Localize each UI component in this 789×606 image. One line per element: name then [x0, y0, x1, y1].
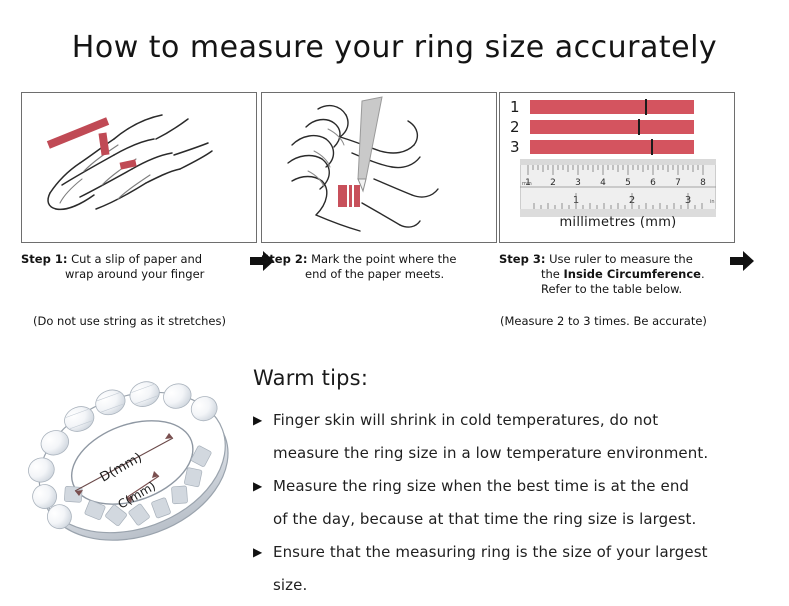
svg-text:4: 4	[600, 178, 606, 188]
step-1-note: (Do not use string as it stretches)	[33, 314, 226, 328]
warm-tip-2: ▶ Measure the ring size when the best ti…	[253, 470, 773, 536]
step-3-text-inside-circumference: Inside Circumference	[564, 267, 701, 281]
warm-tip-1: ▶ Finger skin will shrink in cold temper…	[253, 404, 773, 470]
svg-text:in: in	[710, 199, 715, 205]
warm-tip-3-line1: Ensure that the measuring ring is the si…	[273, 536, 773, 569]
svg-text:3: 3	[575, 178, 581, 188]
svg-text:5: 5	[625, 178, 631, 188]
pen-icon	[358, 97, 382, 191]
paper-strip-row-1: 1	[510, 100, 726, 115]
svg-text:6: 6	[650, 178, 656, 188]
paper-mark-red	[338, 185, 360, 207]
step-3-illustration-panel: 1 2 3	[499, 92, 735, 243]
svg-text:7: 7	[675, 178, 681, 188]
paper-slip-red	[47, 117, 137, 169]
step-3-text-line2-prefix: the	[541, 267, 564, 281]
strip-number-2: 2	[510, 118, 526, 136]
ruler-icon: 123 456 78 mm 123	[520, 159, 716, 217]
step-1-text-line2: wrap around your finger	[21, 267, 259, 282]
step-3-label: Step 3:	[499, 252, 545, 266]
warm-tip-1-line1: Finger skin will shrink in cold temperat…	[273, 404, 773, 437]
step-2-caption: Step 2: Mark the point where the end of …	[261, 252, 499, 282]
step-column-2: Step 2: Mark the point where the end of …	[261, 92, 499, 282]
hand-with-paper-slip-icon	[22, 93, 257, 243]
step-3-text-line3: Refer to the table below.	[499, 282, 737, 297]
strip-number-3: 3	[510, 138, 526, 156]
step-1-text-line1: Cut a slip of paper and	[71, 252, 202, 266]
bullet-triangle-icon: ▶	[253, 470, 262, 503]
paper-strip-row-2: 2	[510, 120, 726, 135]
step-3-text-line1: Use ruler to measure the	[549, 252, 693, 266]
paper-strip-row-3: 3	[510, 140, 726, 155]
step-column-1: Step 1: Cut a slip of paper and wrap aro…	[21, 92, 259, 282]
step-2-illustration-panel	[261, 92, 497, 243]
strip-mark-1	[645, 99, 647, 115]
strip-number-1: 1	[510, 98, 526, 116]
warm-tip-3: ▶ Ensure that the measuring ring is the …	[253, 536, 773, 602]
step-3-text-line2-suffix: .	[701, 267, 705, 281]
bullet-triangle-icon: ▶	[253, 404, 262, 437]
step-1-caption: Step 1: Cut a slip of paper and wrap aro…	[21, 252, 259, 282]
warm-tips-section: Warm tips: ▶ Finger skin will shrink in …	[253, 366, 773, 602]
svg-text:2: 2	[550, 178, 556, 188]
ring-photo-icon: D(mm) C(mm)	[28, 358, 242, 588]
step-2-label: Step 2:	[261, 252, 307, 266]
step-1-label: Step 1:	[21, 252, 67, 266]
bullet-triangle-icon: ▶	[253, 536, 262, 569]
strip-mark-3	[651, 139, 653, 155]
svg-text:mm: mm	[522, 181, 532, 187]
step-1-illustration-panel	[21, 92, 257, 243]
warm-tip-3-line2: size.	[273, 569, 773, 602]
step-2-text-line2: end of the paper meets.	[261, 267, 499, 282]
strip-bar-2	[530, 120, 694, 134]
step-2-text-line1: Mark the point where the	[311, 252, 456, 266]
step-3-note: (Measure 2 to 3 times. Be accurate)	[500, 314, 707, 328]
steps-row: Step 1: Cut a slip of paper and wrap aro…	[0, 92, 789, 342]
ring-diagram: D(mm) C(mm)	[28, 358, 242, 588]
warm-tip-2-line2: of the day, because at that time the rin…	[273, 503, 773, 536]
step-column-3: 1 2 3	[499, 92, 737, 297]
hand-marking-with-pen-icon	[262, 93, 497, 243]
svg-text:8: 8	[700, 178, 706, 188]
step-3-caption: Step 3: Use ruler to measure the the Ins…	[499, 252, 737, 297]
millimetres-unit-label: millimetres (mm)	[500, 215, 735, 230]
strip-mark-2	[638, 119, 640, 135]
warm-tip-1-line2: measure the ring size in a low temperatu…	[273, 437, 773, 470]
page-title: How to measure your ring size accurately	[0, 30, 789, 65]
warm-tips-title: Warm tips:	[253, 366, 773, 390]
strip-bar-3	[530, 140, 694, 154]
warm-tip-2-line1: Measure the ring size when the best time…	[273, 470, 773, 503]
strip-bar-1	[530, 100, 694, 114]
